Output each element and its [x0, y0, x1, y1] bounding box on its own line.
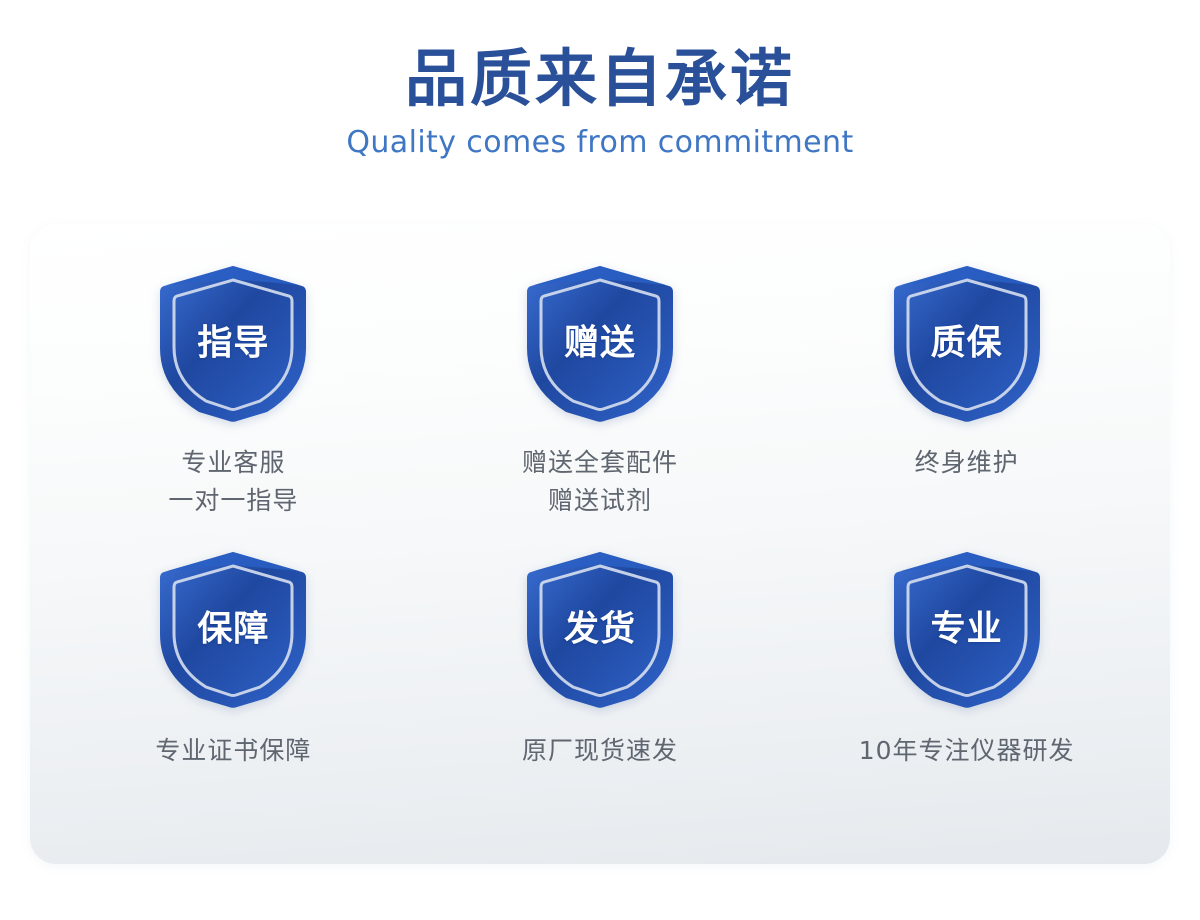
shield-icon: [157, 262, 309, 424]
shield-badge-5: 发货: [524, 548, 676, 710]
feature-item-4: 保障 专业证书保障: [50, 548, 417, 834]
features-grid: 指导 专业客服 一对一指导 赠送: [30, 224, 1170, 864]
feature-caption: 终身维护: [915, 444, 1019, 482]
feature-item-5: 发货 原厂现货速发: [417, 548, 784, 834]
shield-icon: [891, 262, 1043, 424]
shield-badge-3: 质保: [891, 262, 1043, 424]
shield-icon: [891, 548, 1043, 710]
shield-icon: [157, 548, 309, 710]
shield-badge-1: 指导: [157, 262, 309, 424]
features-card: 指导 专业客服 一对一指导 赠送: [30, 224, 1170, 864]
shield-badge-6: 专业: [891, 548, 1043, 710]
page-title: 品质来自承诺: [0, 46, 1200, 111]
feature-item-1: 指导 专业客服 一对一指导: [50, 262, 417, 548]
feature-item-2: 赠送 赠送全套配件 赠送试剂: [417, 262, 784, 548]
feature-item-3: 质保 终身维护: [783, 262, 1150, 548]
feature-caption: 专业证书保障: [155, 732, 311, 770]
shield-badge-2: 赠送: [524, 262, 676, 424]
feature-caption: 10年专注仪器研发: [859, 732, 1075, 770]
feature-caption: 原厂现货速发: [522, 732, 678, 770]
feature-caption: 赠送全套配件 赠送试剂: [522, 444, 678, 520]
shield-icon: [524, 262, 676, 424]
page-header: 品质来自承诺 Quality comes from commitment: [0, 0, 1200, 160]
page-subtitle: Quality comes from commitment: [0, 125, 1200, 160]
feature-item-6: 专业 10年专注仪器研发: [783, 548, 1150, 834]
shield-badge-4: 保障: [157, 548, 309, 710]
feature-caption: 专业客服 一对一指导: [168, 444, 298, 520]
shield-icon: [524, 548, 676, 710]
